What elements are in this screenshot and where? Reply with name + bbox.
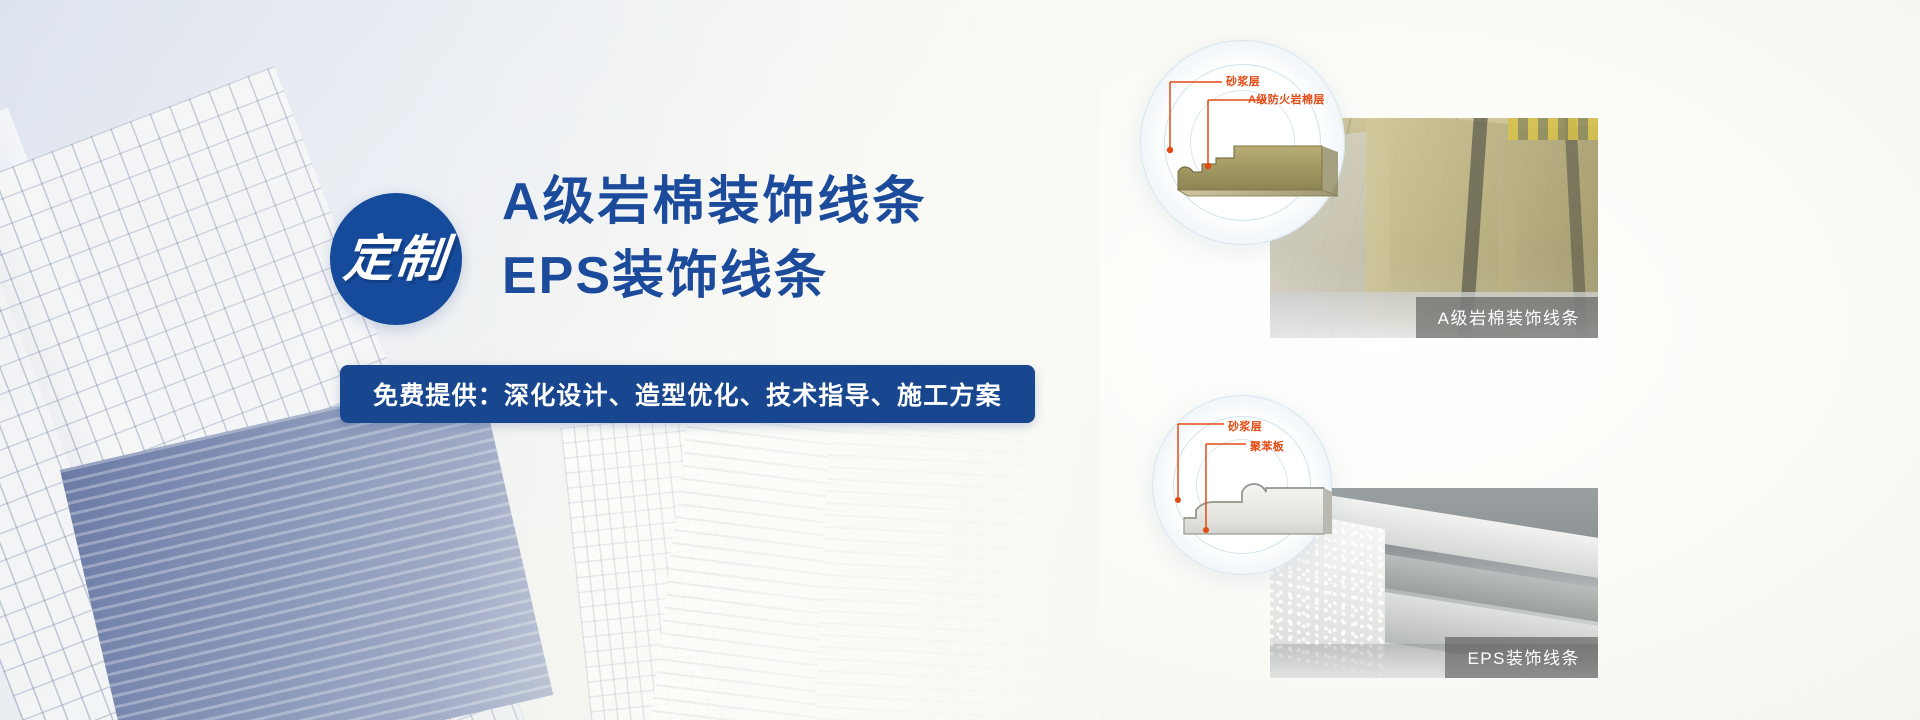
product-caption-eps: EPS装饰线条 [1445,637,1598,678]
service-highlight-text: 免费提供：深化设计、造型优化、技术指导、施工方案 [373,376,1002,412]
product-caption-rockwool: A级岩棉装饰线条 [1416,297,1598,338]
building-tower-right-secondary [813,430,1059,720]
page-title: A级岩棉装饰线条 EPS装饰线条 [502,165,928,313]
callout-label-eps-mortar: 砂浆层 [1228,418,1262,434]
rockwool-top-bar [1508,118,1598,140]
service-highlight-bar: 免费提供：深化设计、造型优化、技术指导、施工方案 [340,365,1035,423]
callout-label-eps-polystyrene: 聚苯板 [1250,438,1284,454]
custom-badge-label: 定制 [341,234,450,284]
headline-line-2: EPS装饰线条 [502,239,928,313]
headline-line-1: A级岩棉装饰线条 [502,165,928,239]
promo-banner: 定制 A级岩棉装饰线条 EPS装饰线条 免费提供：深化设计、造型优化、技术指导、… [0,0,1920,720]
custom-badge: 定制 [330,193,462,325]
callout-label-rockwool-fireproof: A级防火岩棉层 [1248,91,1325,107]
callout-label-rockwool-mortar: 砂浆层 [1226,73,1260,89]
